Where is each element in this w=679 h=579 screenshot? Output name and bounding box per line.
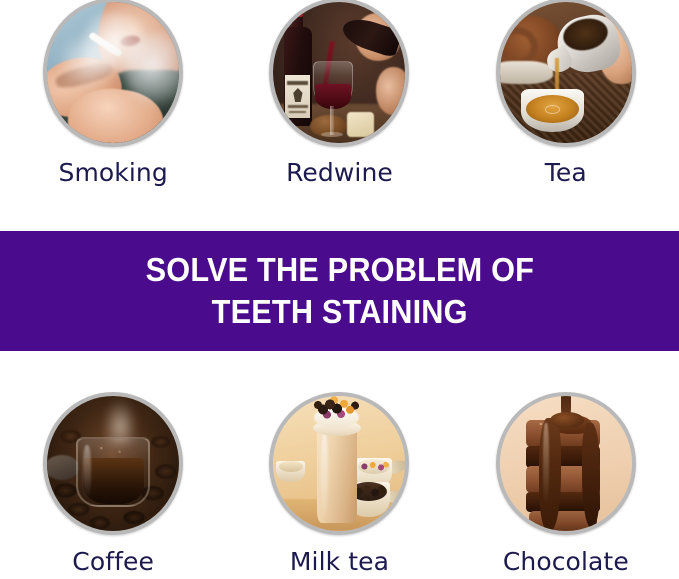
redwine-scene [273,2,405,143]
cause-card-tea[interactable]: Tea [466,0,666,185]
tea-ripple [545,105,560,114]
tea-image-wrap [496,0,636,147]
tea-scene [500,2,632,143]
espresso-crema-texture [83,441,144,460]
smoking-photo-circle [43,0,183,147]
staining-causes-top-row: Smoking [0,0,679,198]
wine-label-text-line-1 [287,81,308,85]
chocolate-image-wrap [496,392,636,535]
staining-causes-bottom-row: Coffee [0,392,679,579]
cause-label-milk-tea: Milk tea [290,549,389,574]
headline-banner: SOLVE THE PROBLEM OF TEETH STAINING [0,231,679,351]
milk-tea-photo-circle [269,392,409,535]
espresso-glass-highlight [83,445,91,499]
wine-liquid [315,84,351,109]
wine-glass-stem [330,106,334,134]
espresso-liquid [83,458,144,504]
milk-tea-topping-bowl-upper-filling [358,459,390,474]
redwine-image-wrap [269,0,409,147]
infographic-page: Smoking [0,0,679,579]
wine-label-text-line-2 [288,105,308,108]
smoking-image-wrap [43,0,183,147]
milk-tea-image-wrap [269,392,409,535]
cause-label-smoking: Smoking [58,160,167,185]
milk-tea-scene [273,396,405,531]
tea-tray [500,61,553,84]
milk-tea-toppings [312,396,362,423]
coffee-image-wrap [43,392,183,535]
chocolate-sauce-right-drip [582,423,600,528]
chocolate-scene [500,396,632,531]
cause-card-redwine[interactable]: Redwine [239,0,439,185]
smoking-scene [47,2,179,143]
redwine-second-hand [376,67,405,115]
redwine-photo-circle [269,0,409,147]
cause-card-coffee[interactable]: Coffee [13,392,213,574]
milk-tea-side-dish-filling [279,461,303,472]
cause-card-chocolate[interactable]: Chocolate [466,392,666,574]
coffee-scene [47,396,179,531]
cause-card-milk-tea[interactable]: Milk tea [239,392,439,574]
cause-card-smoking[interactable]: Smoking [13,0,213,185]
tea-photo-circle [496,0,636,147]
cause-label-tea: Tea [545,160,587,185]
chocolate-photo-circle [496,392,636,535]
coffee-scoop [47,455,79,479]
cause-label-coffee: Coffee [72,549,154,574]
wine-label-text-line-3 [289,111,306,114]
wine-bottle-cap [292,8,303,18]
cause-label-chocolate: Chocolate [503,549,629,574]
cheese-wedge [347,112,373,137]
milk-tea-cup-highlight [321,431,328,515]
chocolate-sauce-highlight [543,423,548,504]
coffee-photo-circle [43,392,183,535]
headline-line-2: TEETH STAINING [211,291,467,333]
cause-label-redwine: Redwine [286,160,393,185]
headline-line-1: SOLVE THE PROBLEM OF [145,249,534,291]
